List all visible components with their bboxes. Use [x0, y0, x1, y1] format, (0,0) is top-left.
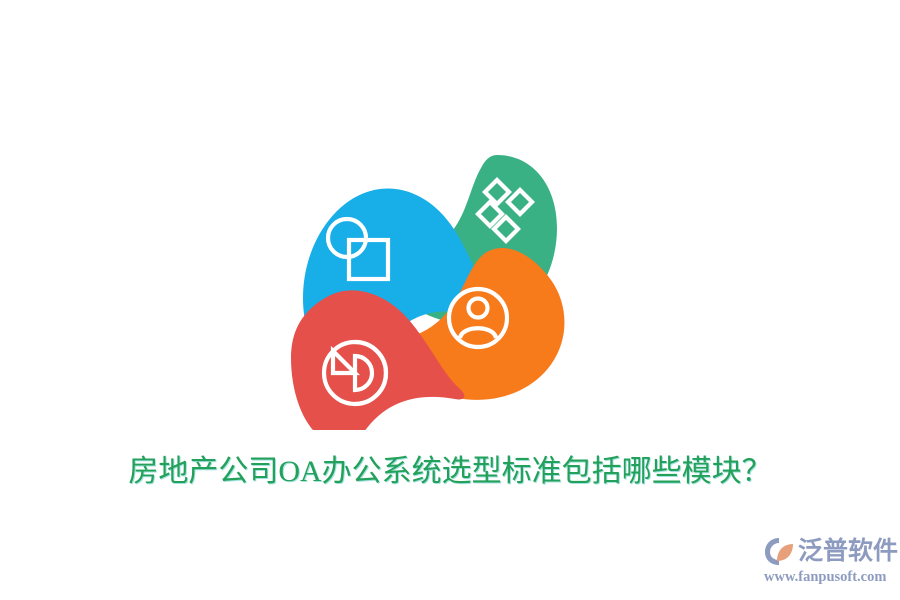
- watermark: 泛普软件 www.fanpusoft.com: [762, 534, 896, 590]
- watermark-url: www.fanpusoft.com: [764, 568, 886, 586]
- watermark-brand-row: 泛普软件: [762, 534, 898, 568]
- page-title: 房地产公司OA办公系统选型标准包括哪些模块？: [0, 450, 900, 494]
- watermark-brand-name: 泛普软件: [798, 536, 898, 566]
- four-petal-pinwheel-logo: [285, 130, 585, 430]
- page-root: 房地产公司OA办公系统选型标准包括哪些模块？ 泛普软件 www.fanpusof…: [0, 0, 900, 600]
- fanpu-brand-icon: [762, 535, 796, 567]
